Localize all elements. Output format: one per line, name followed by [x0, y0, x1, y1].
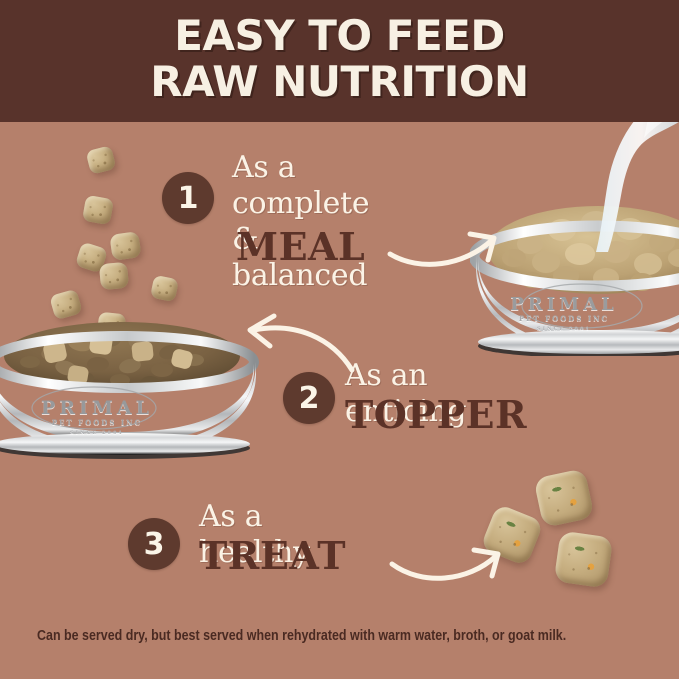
step-1-badge: 1	[162, 172, 214, 224]
bowl-brand-sub2-label-2: SINCE 2001	[0, 430, 242, 436]
bowl-topper-graphic	[0, 312, 272, 462]
infographic-canvas: PRIMAL PET FOODS INC SINCE 2001	[0, 0, 679, 679]
falling-nugget	[150, 275, 179, 303]
dog-bowl-meal: PRIMAL PET FOODS INC SINCE 2001	[470, 196, 679, 356]
falling-nugget	[85, 145, 116, 175]
bowl-brand-sub-label: PET FOODS INC	[434, 314, 679, 323]
step-1-script-text: As a complete & balanced	[232, 150, 369, 294]
footer-note: Can be served dry, but best served when …	[37, 628, 562, 644]
bowl-brand-label: PRIMAL	[434, 294, 679, 315]
step-2-emphasis-word: TOPPER	[345, 392, 527, 437]
dog-bowl-topper: PRIMAL PET FOODS INC SINCE 2001	[0, 312, 272, 462]
step-3-emphasis-word: TREAT	[199, 533, 346, 578]
step-1-emphasis-word: MEAL	[236, 224, 365, 269]
falling-nugget	[99, 262, 129, 290]
step-2-badge: 2	[283, 372, 335, 424]
header-band: EASY TO FEED RAW NUTRITION	[0, 0, 679, 122]
bowl-brand-label-2: PRIMAL	[0, 397, 242, 419]
page-title: EASY TO FEED RAW NUTRITION	[0, 13, 679, 105]
treat-nugget	[554, 531, 614, 589]
treat-nugget	[480, 503, 544, 566]
step-3-badge: 3	[128, 518, 180, 570]
falling-nugget	[109, 231, 141, 261]
bowl-brand-sub-label-2: PET FOODS INC	[0, 418, 242, 427]
bowl-meal-graphic	[470, 196, 679, 356]
bowl-brand-sub2-label: SINCE 2001	[434, 326, 679, 332]
falling-nugget	[82, 195, 114, 225]
treat-nugget	[533, 468, 594, 528]
